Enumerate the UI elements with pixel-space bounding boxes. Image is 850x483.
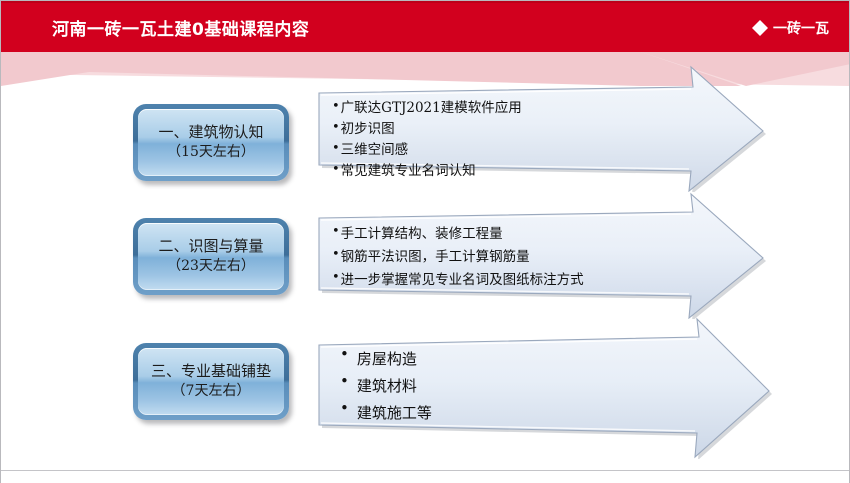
stage-chip-2-face: 二、识图与算量 （23天左右） bbox=[138, 223, 284, 290]
stage-chip-1[interactable]: 一、建筑物认知 （15天左右） bbox=[133, 104, 289, 181]
list-item: •初步识图 bbox=[332, 119, 522, 140]
list-item: •建筑施工等 bbox=[340, 400, 432, 427]
stage-chip-2-title: 二、识图与算量 bbox=[158, 237, 263, 257]
page-title: 河南一砖一瓦土建0基础课程内容 bbox=[52, 15, 309, 40]
stage-chip-3-title: 三、专业基础铺垫 bbox=[151, 362, 271, 382]
stage-chip-3-face: 三、专业基础铺垫 （7天左右） bbox=[138, 348, 284, 415]
stage-arrow-3: •房屋构造 •建筑材料 •建筑施工等 bbox=[314, 314, 779, 459]
list-item: •建筑材料 bbox=[340, 373, 432, 400]
list-item: •常见建筑专业名词认知 bbox=[332, 161, 522, 182]
slide-header: 河南一砖一瓦土建0基础课程内容 一砖一瓦 bbox=[1, 1, 850, 52]
content-area: •广联达GTJ2021建模软件应用 •初步识图 •三维空间感 •常见建筑专业名词… bbox=[1, 52, 850, 483]
brand-logo-text: 一砖一瓦 bbox=[773, 18, 829, 38]
bullet-icon: • bbox=[340, 374, 349, 389]
bullet-icon: • bbox=[332, 225, 340, 238]
stage-chip-1-title: 一、建筑物认知 bbox=[158, 123, 263, 143]
bullet-icon: • bbox=[332, 271, 340, 284]
diamond-logo-icon bbox=[751, 19, 769, 37]
stage-chip-3[interactable]: 三、专业基础铺垫 （7天左右） bbox=[133, 343, 289, 420]
bullet-icon: • bbox=[332, 163, 340, 176]
bullet-icon: • bbox=[340, 347, 349, 362]
stage-arrow-3-bullets: •房屋构造 •建筑材料 •建筑施工等 bbox=[340, 346, 432, 427]
bullet-icon: • bbox=[332, 100, 340, 113]
list-item: •三维空间感 bbox=[332, 140, 522, 161]
stage-chip-2[interactable]: 二、识图与算量 （23天左右） bbox=[133, 218, 289, 295]
stage-arrow-1: •广联达GTJ2021建模软件应用 •初步识图 •三维空间感 •常见建筑专业名词… bbox=[314, 62, 769, 192]
brand-logo: 一砖一瓦 bbox=[751, 18, 829, 38]
list-item: •广联达GTJ2021建模软件应用 bbox=[332, 98, 522, 119]
header-top-rule bbox=[1, 1, 850, 3]
stage-chip-1-duration: （15天左右） bbox=[167, 143, 255, 161]
stage-chip-2-duration: （23天左右） bbox=[167, 257, 255, 275]
list-item: •房屋构造 bbox=[340, 346, 432, 373]
stage-arrow-2-bullets: •手工计算结构、装修工程量 •钢筋平法识图，手工计算钢筋量 •进一步掌握常见专业… bbox=[332, 223, 584, 292]
bullet-icon: • bbox=[340, 401, 349, 416]
bullet-icon: • bbox=[332, 142, 340, 155]
slide-footer-edge bbox=[1, 470, 850, 483]
list-item: •钢筋平法识图，手工计算钢筋量 bbox=[332, 246, 584, 269]
list-item: •进一步掌握常见专业名词及图纸标注方式 bbox=[332, 269, 584, 292]
slide-canvas: 河南一砖一瓦土建0基础课程内容 一砖一瓦 bbox=[0, 0, 850, 483]
stage-arrow-2: •手工计算结构、装修工程量 •钢筋平法识图，手工计算钢筋量 •进一步掌握常见专业… bbox=[314, 189, 769, 319]
bullet-icon: • bbox=[332, 248, 340, 261]
stage-chip-1-face: 一、建筑物认知 （15天左右） bbox=[138, 109, 284, 176]
bullet-icon: • bbox=[332, 121, 340, 134]
stage-arrow-1-bullets: •广联达GTJ2021建模软件应用 •初步识图 •三维空间感 •常见建筑专业名词… bbox=[332, 98, 522, 182]
stage-chip-3-duration: （7天左右） bbox=[172, 382, 251, 400]
list-item: •手工计算结构、装修工程量 bbox=[332, 223, 584, 246]
